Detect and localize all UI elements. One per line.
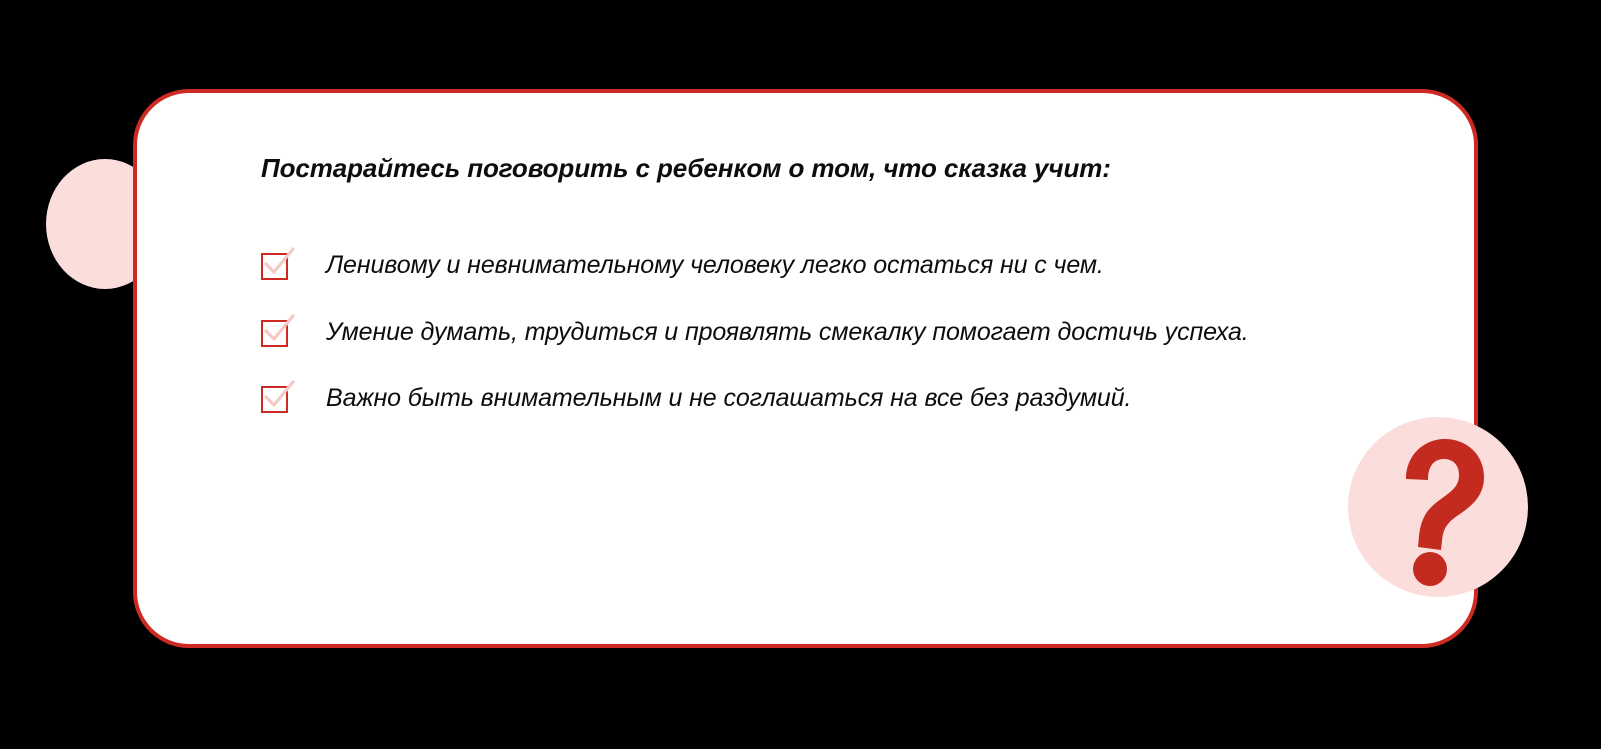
lesson-card: Постарайтесь поговорить с ребенком о том… (133, 89, 1478, 648)
checkbox-checked-icon[interactable] (261, 253, 288, 280)
card-content: Постарайтесь поговорить с ребенком о том… (261, 153, 1414, 644)
page-title: Постарайтесь поговорить с ребенком о том… (261, 153, 1414, 184)
list-item[interactable]: Важно быть внимательным и не соглашаться… (261, 379, 1414, 419)
checkbox-checked-icon[interactable] (261, 320, 288, 347)
slide-stage: Постарайтесь поговорить с ребенком о том… (0, 0, 1601, 749)
checkmark-icon (263, 247, 296, 280)
list-item[interactable]: Ленивому и невнимательному человеку легк… (261, 246, 1414, 286)
checkbox-checked-icon[interactable] (261, 386, 288, 413)
lesson-checklist: Ленивому и невнимательному человеку легк… (261, 246, 1414, 419)
checkmark-icon (263, 380, 296, 413)
question-mark-icon (1348, 417, 1528, 597)
checkmark-icon (263, 314, 296, 347)
list-item[interactable]: Умение думать, трудиться и проявлять сме… (261, 313, 1414, 353)
question-mark-badge (1348, 417, 1528, 597)
list-item-label: Умение думать, трудиться и проявлять сме… (326, 313, 1249, 353)
list-item-label: Ленивому и невнимательному человеку легк… (326, 246, 1104, 286)
list-item-label: Важно быть внимательным и не соглашаться… (326, 379, 1131, 419)
